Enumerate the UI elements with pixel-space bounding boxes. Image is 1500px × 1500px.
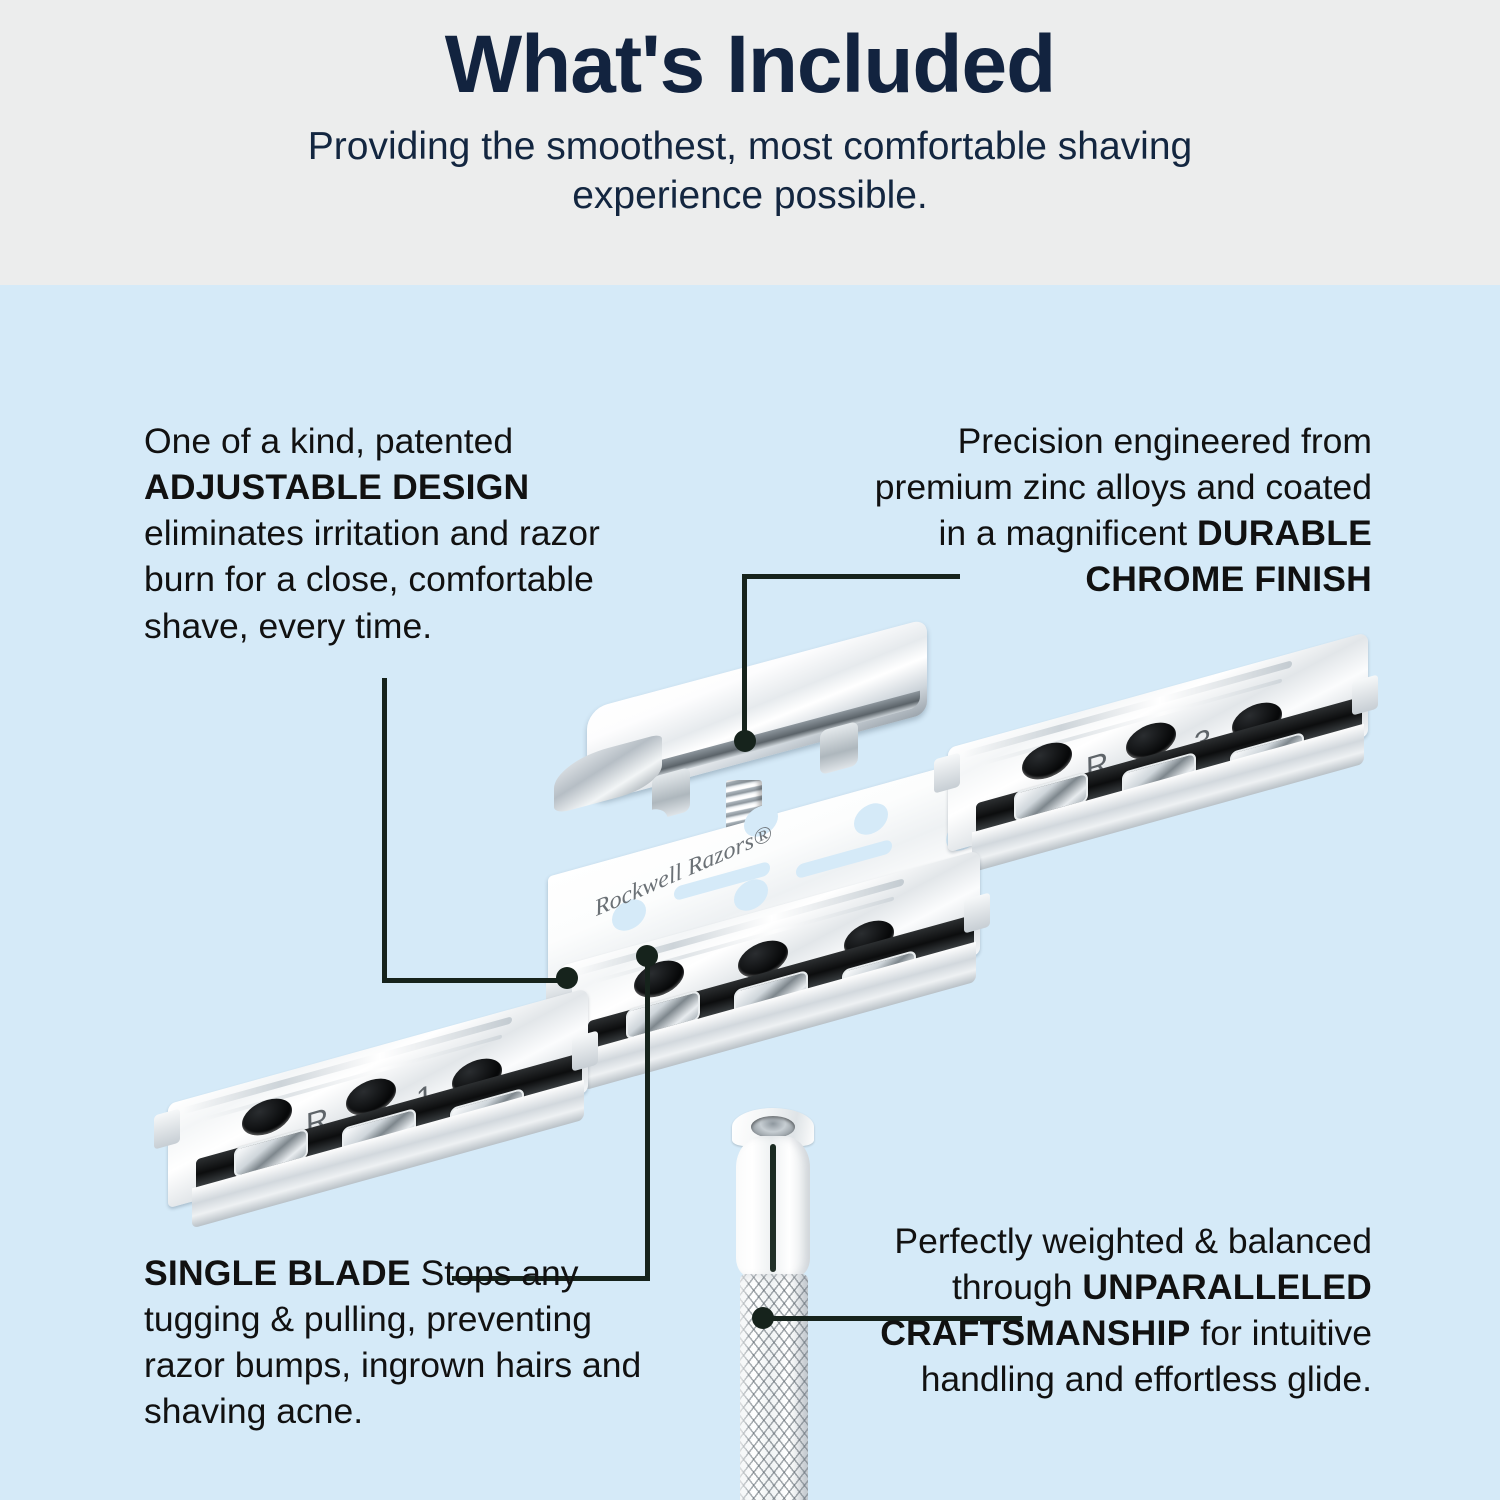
base-plate-r1: R 1 [168, 1046, 588, 1196]
plate-ear-left [154, 1108, 180, 1149]
callout-text-pre: One of a kind, patented [144, 421, 513, 461]
callout-durable-chrome-finish: Precision engineered from premium zinc a… [862, 418, 1372, 603]
handle-thread-bore [751, 1116, 795, 1138]
plate-ear-right [964, 892, 990, 933]
base-plate-middle [560, 908, 980, 1058]
blade-notch [540, 835, 574, 874]
callout-text-emphasis: SINGLE BLADE [144, 1253, 411, 1293]
callout-text-emphasis: ADJUSTABLE DESIGN [144, 467, 529, 507]
page-subtitle: Providing the smoothest, most comfortabl… [225, 123, 1275, 221]
infographic-canvas: What's Included Providing the smoothest,… [0, 0, 1500, 1500]
leader-segment-horizontal [382, 978, 568, 983]
knurled-handle [718, 1108, 828, 1500]
base-plate-r3: R 3 [948, 690, 1368, 840]
top-cap-post-right [820, 721, 858, 775]
callout-single-blade: SINGLE BLADE Stops any tugging & pulling… [144, 1250, 644, 1435]
callout-adjustable-design: One of a kind, patented ADJUSTABLE DESIG… [144, 418, 634, 649]
handle-neck-seam [770, 1144, 776, 1272]
callout-unparalleled-craftsmanship: Perfectly weighted & balanced through UN… [867, 1218, 1372, 1403]
callout-text-post: eliminates irritation and razor burn for… [144, 513, 600, 645]
plate-ear-right [1352, 674, 1378, 715]
header-band: What's Included Providing the smoothest,… [0, 0, 1500, 285]
plate-ear-right [572, 1030, 598, 1071]
handle-knurled-grip [740, 1274, 808, 1500]
plate-ear-left [934, 752, 960, 793]
page-title: What's Included [445, 22, 1055, 109]
leader-segment-vertical [382, 678, 387, 983]
